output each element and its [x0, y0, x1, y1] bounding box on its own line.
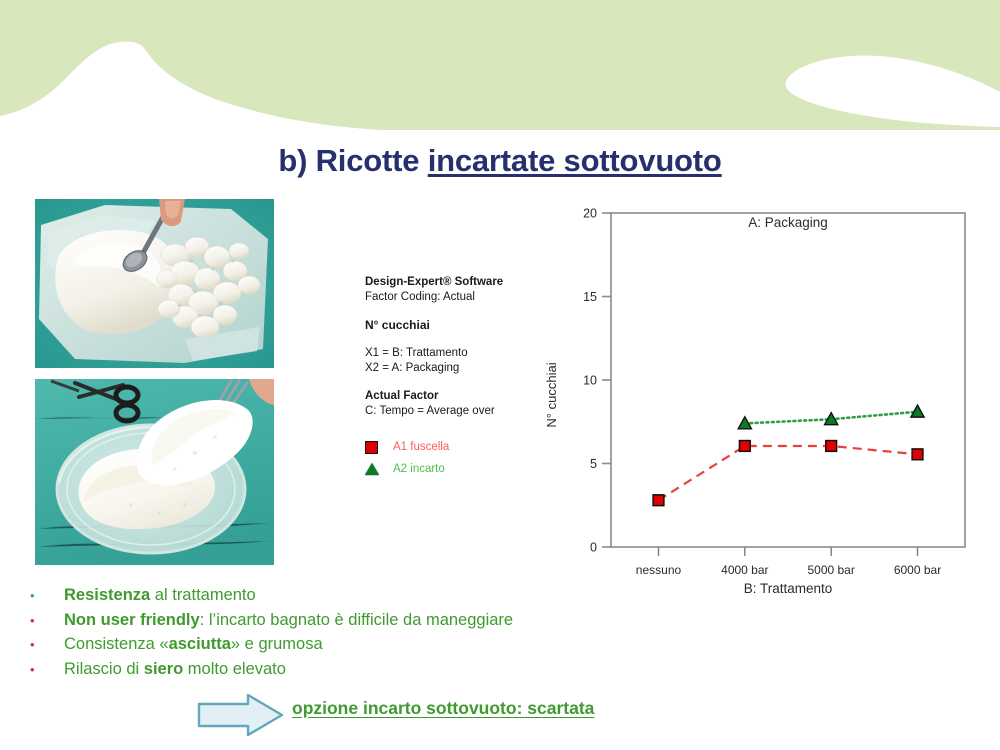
bullet-text: Non user friendly: l’incarto bagnato è d…: [64, 608, 513, 633]
photo-ricotta-incartata: [35, 199, 274, 368]
y-tick-label: 0: [590, 541, 597, 555]
title-underlined: incartate sottovuoto: [428, 143, 722, 178]
chart-y-axis-label: N° cucchiai: [544, 362, 559, 427]
bullet-text: Consistenza «asciutta» e grumosa: [64, 632, 323, 657]
factor-coding: Factor Coding: Actual: [365, 290, 555, 305]
bullet-dot-icon: •: [30, 584, 64, 609]
data-point-marker: [826, 441, 837, 452]
x-tick-label: 5000 bar: [807, 563, 854, 577]
x-axis-ticks: nessuno4000 bar5000 bar6000 bar: [636, 547, 941, 577]
x2-definition: X2 = A: Packaging: [365, 361, 555, 376]
green-triangle-icon: [365, 463, 387, 475]
legend-item-a2: A2 incarto: [365, 458, 555, 480]
right-arrow-icon: [196, 692, 286, 738]
page-title: b) Ricotte incartate sottovuoto: [0, 143, 1000, 179]
bullet-dot-icon: •: [30, 658, 64, 683]
bullet-text: Resistenza al trattamento: [64, 583, 256, 608]
legend-label-a2: A2 incarto: [393, 462, 445, 477]
conclusion-text: opzione incarto sottovuoto: scartata: [292, 698, 594, 719]
chart-legend: A1 fuscella A2 incarto: [365, 436, 555, 480]
top-wave-banner: [0, 0, 1000, 130]
data-point-marker: [912, 449, 923, 460]
actual-factor-label: Actual Factor: [365, 389, 555, 404]
x1-definition: X1 = B: Trattamento: [365, 346, 555, 361]
chart-x-axis-label: B: Trattamento: [744, 581, 833, 596]
legend-label-a1: A1 fuscella: [393, 440, 449, 455]
bullet-dot-icon: •: [30, 633, 64, 658]
y-axis-ticks: 05101520: [583, 207, 611, 555]
bullet-dot-icon: •: [30, 609, 64, 634]
bullet-item: •Rilascio di siero molto elevato: [30, 657, 690, 682]
bullet-item: •Resistenza al trattamento: [30, 583, 690, 608]
legend-item-a1: A1 fuscella: [365, 436, 555, 458]
software-name: Design-Expert® Software: [365, 275, 555, 290]
y-tick-label: 5: [590, 457, 597, 471]
bullet-text: Rilascio di siero molto elevato: [64, 657, 286, 682]
y-tick-label: 10: [583, 374, 597, 388]
x-tick-label: 4000 bar: [721, 563, 768, 577]
x-tick-label: nessuno: [636, 563, 682, 577]
x-tick-label: 6000 bar: [894, 563, 941, 577]
data-point-marker: [653, 495, 664, 506]
title-plain: b) Ricotte: [278, 143, 427, 178]
actual-factor-value: C: Tempo = Average over: [365, 404, 555, 419]
interaction-plot: N° cucchiai A: Packaging 05101520 nessun…: [530, 195, 1000, 605]
bullet-item: •Consistenza «asciutta» e grumosa: [30, 632, 690, 657]
bullet-item: •Non user friendly: l’incarto bagnato è …: [30, 608, 690, 633]
conclusion-block: opzione incarto sottovuoto: scartata: [196, 692, 816, 740]
banner-wave-shape: [0, 0, 1000, 130]
y-tick-label: 15: [583, 290, 597, 304]
response-name: N° cucchiai: [365, 318, 555, 333]
chart-title: A: Packaging: [748, 215, 828, 230]
y-tick-label: 20: [583, 207, 597, 221]
data-point-marker: [739, 441, 750, 452]
photo-ricotta-ciotola: [35, 379, 274, 565]
red-square-icon: [365, 441, 387, 454]
bullet-list: •Resistenza al trattamento•Non user frie…: [30, 583, 690, 681]
design-expert-info-block: Design-Expert® Software Factor Coding: A…: [365, 275, 555, 480]
